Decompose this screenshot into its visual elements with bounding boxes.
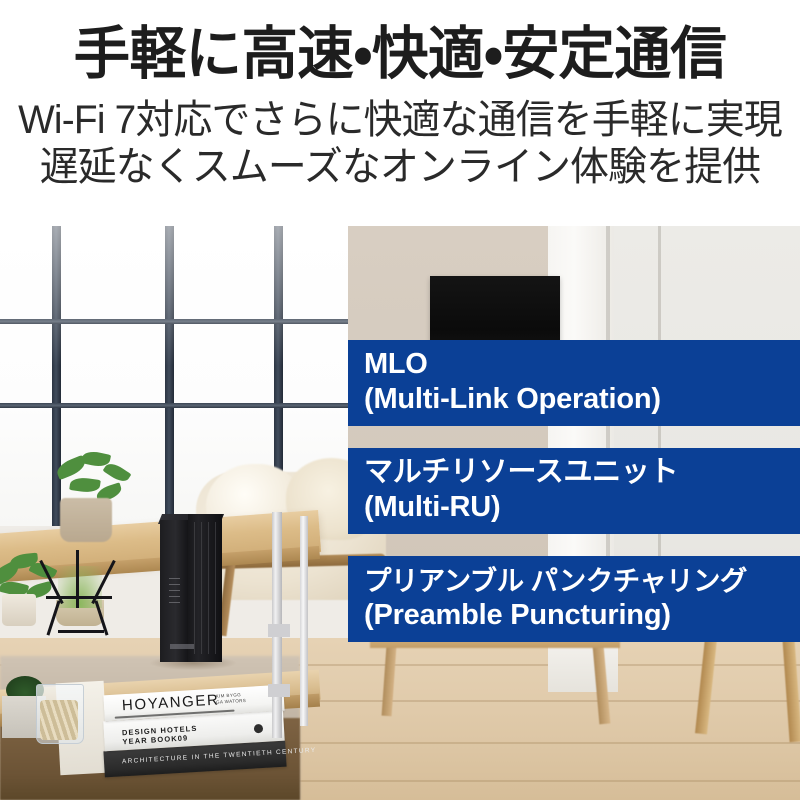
window-mullion-horizontal-2	[0, 403, 348, 408]
feature-label-jp: MLO	[364, 347, 800, 382]
header-text-block: 手軽に高速・快適・安定通信 Wi-Fi 7対応でさらに快適な通信を手軽に実現 遅…	[0, 0, 800, 226]
window-mullion-vertical-2	[165, 226, 174, 526]
feature-label-en: (Multi-Link Operation)	[364, 382, 800, 417]
background-pot	[60, 498, 112, 542]
feature-label-en: (Multi-RU)	[364, 490, 800, 525]
promo-banner: 手軽に高速・快適・安定通信 Wi-Fi 7対応でさらに快適な通信を手軽に実現 遅…	[0, 0, 800, 800]
book-subtitle-1: KIM BYGG GA WATORS	[215, 692, 246, 706]
book-logo-dot	[254, 724, 264, 734]
feature-label-preamble-puncturing: プリアンブル パンクチャリング (Preamble Puncturing)	[348, 556, 800, 642]
foreground-plant-pot	[2, 594, 36, 626]
feature-label-jp: マルチリソースユニット	[364, 455, 800, 490]
rack-post-right	[300, 516, 308, 726]
feature-label-en: (Preamble Puncturing)	[364, 598, 800, 633]
rack-clip-upper	[268, 624, 290, 637]
rack-clip-lower	[268, 684, 290, 697]
router-front-face	[188, 514, 222, 662]
subtitle-line-2: 遅延なくスムーズなオンライン体験を提供	[12, 144, 788, 190]
router-brand-logo	[170, 644, 194, 649]
page-title: 手軽に高速・快適・安定通信	[4, 21, 796, 87]
book-title-2: DESIGN HOTELS YEAR BOOK09	[122, 724, 198, 746]
feature-label-multi-ru: マルチリソースユニット (Multi-RU)	[348, 448, 800, 534]
window-mullion-horizontal-1	[0, 319, 348, 324]
breadsticks	[40, 700, 78, 740]
router-led-indicators	[169, 578, 180, 606]
geometric-terrarium	[44, 550, 116, 636]
subtitle-line-1: Wi-Fi 7対応でさらに快適な通信を手軽に実現	[12, 97, 788, 143]
feature-label-jp: プリアンブル パンクチャリング	[364, 563, 800, 598]
feature-label-mlo: MLO (Multi-Link Operation)	[348, 340, 800, 426]
